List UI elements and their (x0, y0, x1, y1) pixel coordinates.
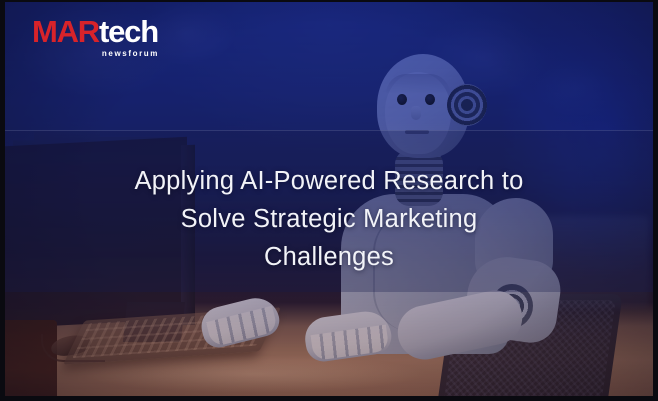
logo-wordmark: MARtech (32, 16, 162, 47)
headline-line-3: Challenges (115, 238, 543, 276)
headline-line-1: Applying AI-Powered Research to (115, 162, 543, 200)
banner-root: MARtech newsforum Applying AI-Powered Re… (0, 0, 658, 401)
headline-scrim-edge (5, 130, 653, 131)
logo-subtitle: newsforum (32, 50, 162, 58)
banner-headline: Applying AI-Powered Research to Solve St… (5, 162, 653, 276)
logo-tech-text: tech (99, 14, 158, 49)
martech-newsforum-logo[interactable]: MARtech newsforum (32, 16, 162, 58)
logo-mar-text: MAR (32, 14, 99, 49)
headline-line-2: Solve Strategic Marketing (115, 200, 543, 238)
banner-photo-plate: MARtech newsforum Applying AI-Powered Re… (5, 2, 653, 396)
